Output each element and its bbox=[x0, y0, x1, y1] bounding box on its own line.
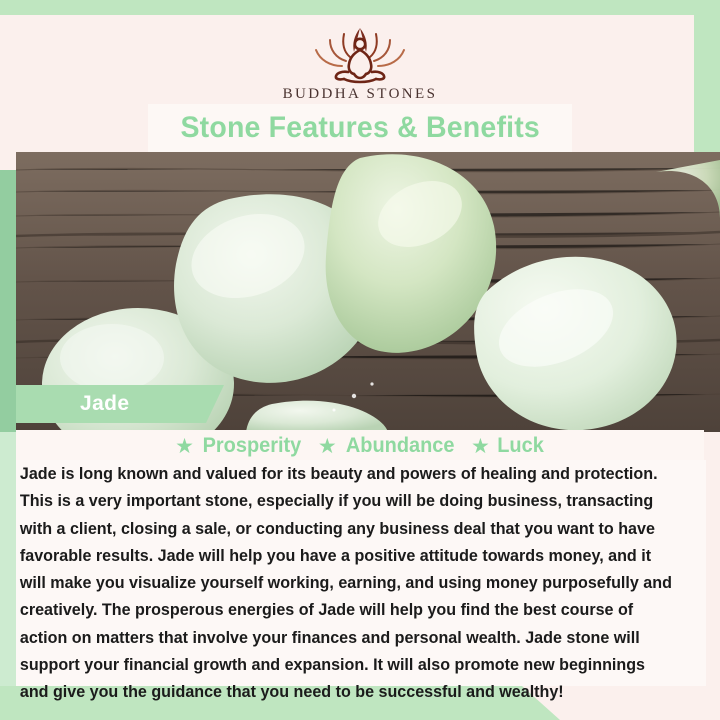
benefit-label: Prosperity bbox=[203, 434, 302, 458]
stone-info-card: BUDDHA STONES Stone Features & Benefits bbox=[0, 0, 720, 720]
decorative-top-band bbox=[0, 0, 720, 15]
brand-header: BUDDHA STONES bbox=[0, 15, 720, 110]
stone-name: Jade bbox=[16, 392, 129, 416]
stone-name-band: Jade bbox=[16, 385, 224, 423]
title-banner: Stone Features & Benefits bbox=[148, 104, 572, 152]
description-text: Jade is long known and valued for its be… bbox=[16, 460, 685, 706]
decorative-left-band-text bbox=[0, 432, 16, 720]
lotus-meditation-icon bbox=[304, 22, 416, 84]
benefit-prosperity: ★ Prosperity bbox=[175, 434, 304, 458]
brand-name: BUDDHA STONES bbox=[283, 86, 438, 103]
benefit-luck: ★ Luck bbox=[471, 434, 545, 458]
star-icon: ★ bbox=[318, 436, 337, 457]
benefit-label: Luck bbox=[497, 434, 544, 458]
description-panel: Jade is long known and valued for its be… bbox=[16, 460, 706, 686]
benefit-label: Abundance bbox=[346, 434, 455, 458]
benefits-row: ★ Prosperity ★ Abundance ★ Luck bbox=[16, 430, 704, 462]
benefit-abundance: ★ Abundance bbox=[318, 434, 457, 458]
star-icon: ★ bbox=[471, 436, 490, 457]
star-icon: ★ bbox=[175, 436, 194, 457]
page-title: Stone Features & Benefits bbox=[180, 111, 540, 145]
